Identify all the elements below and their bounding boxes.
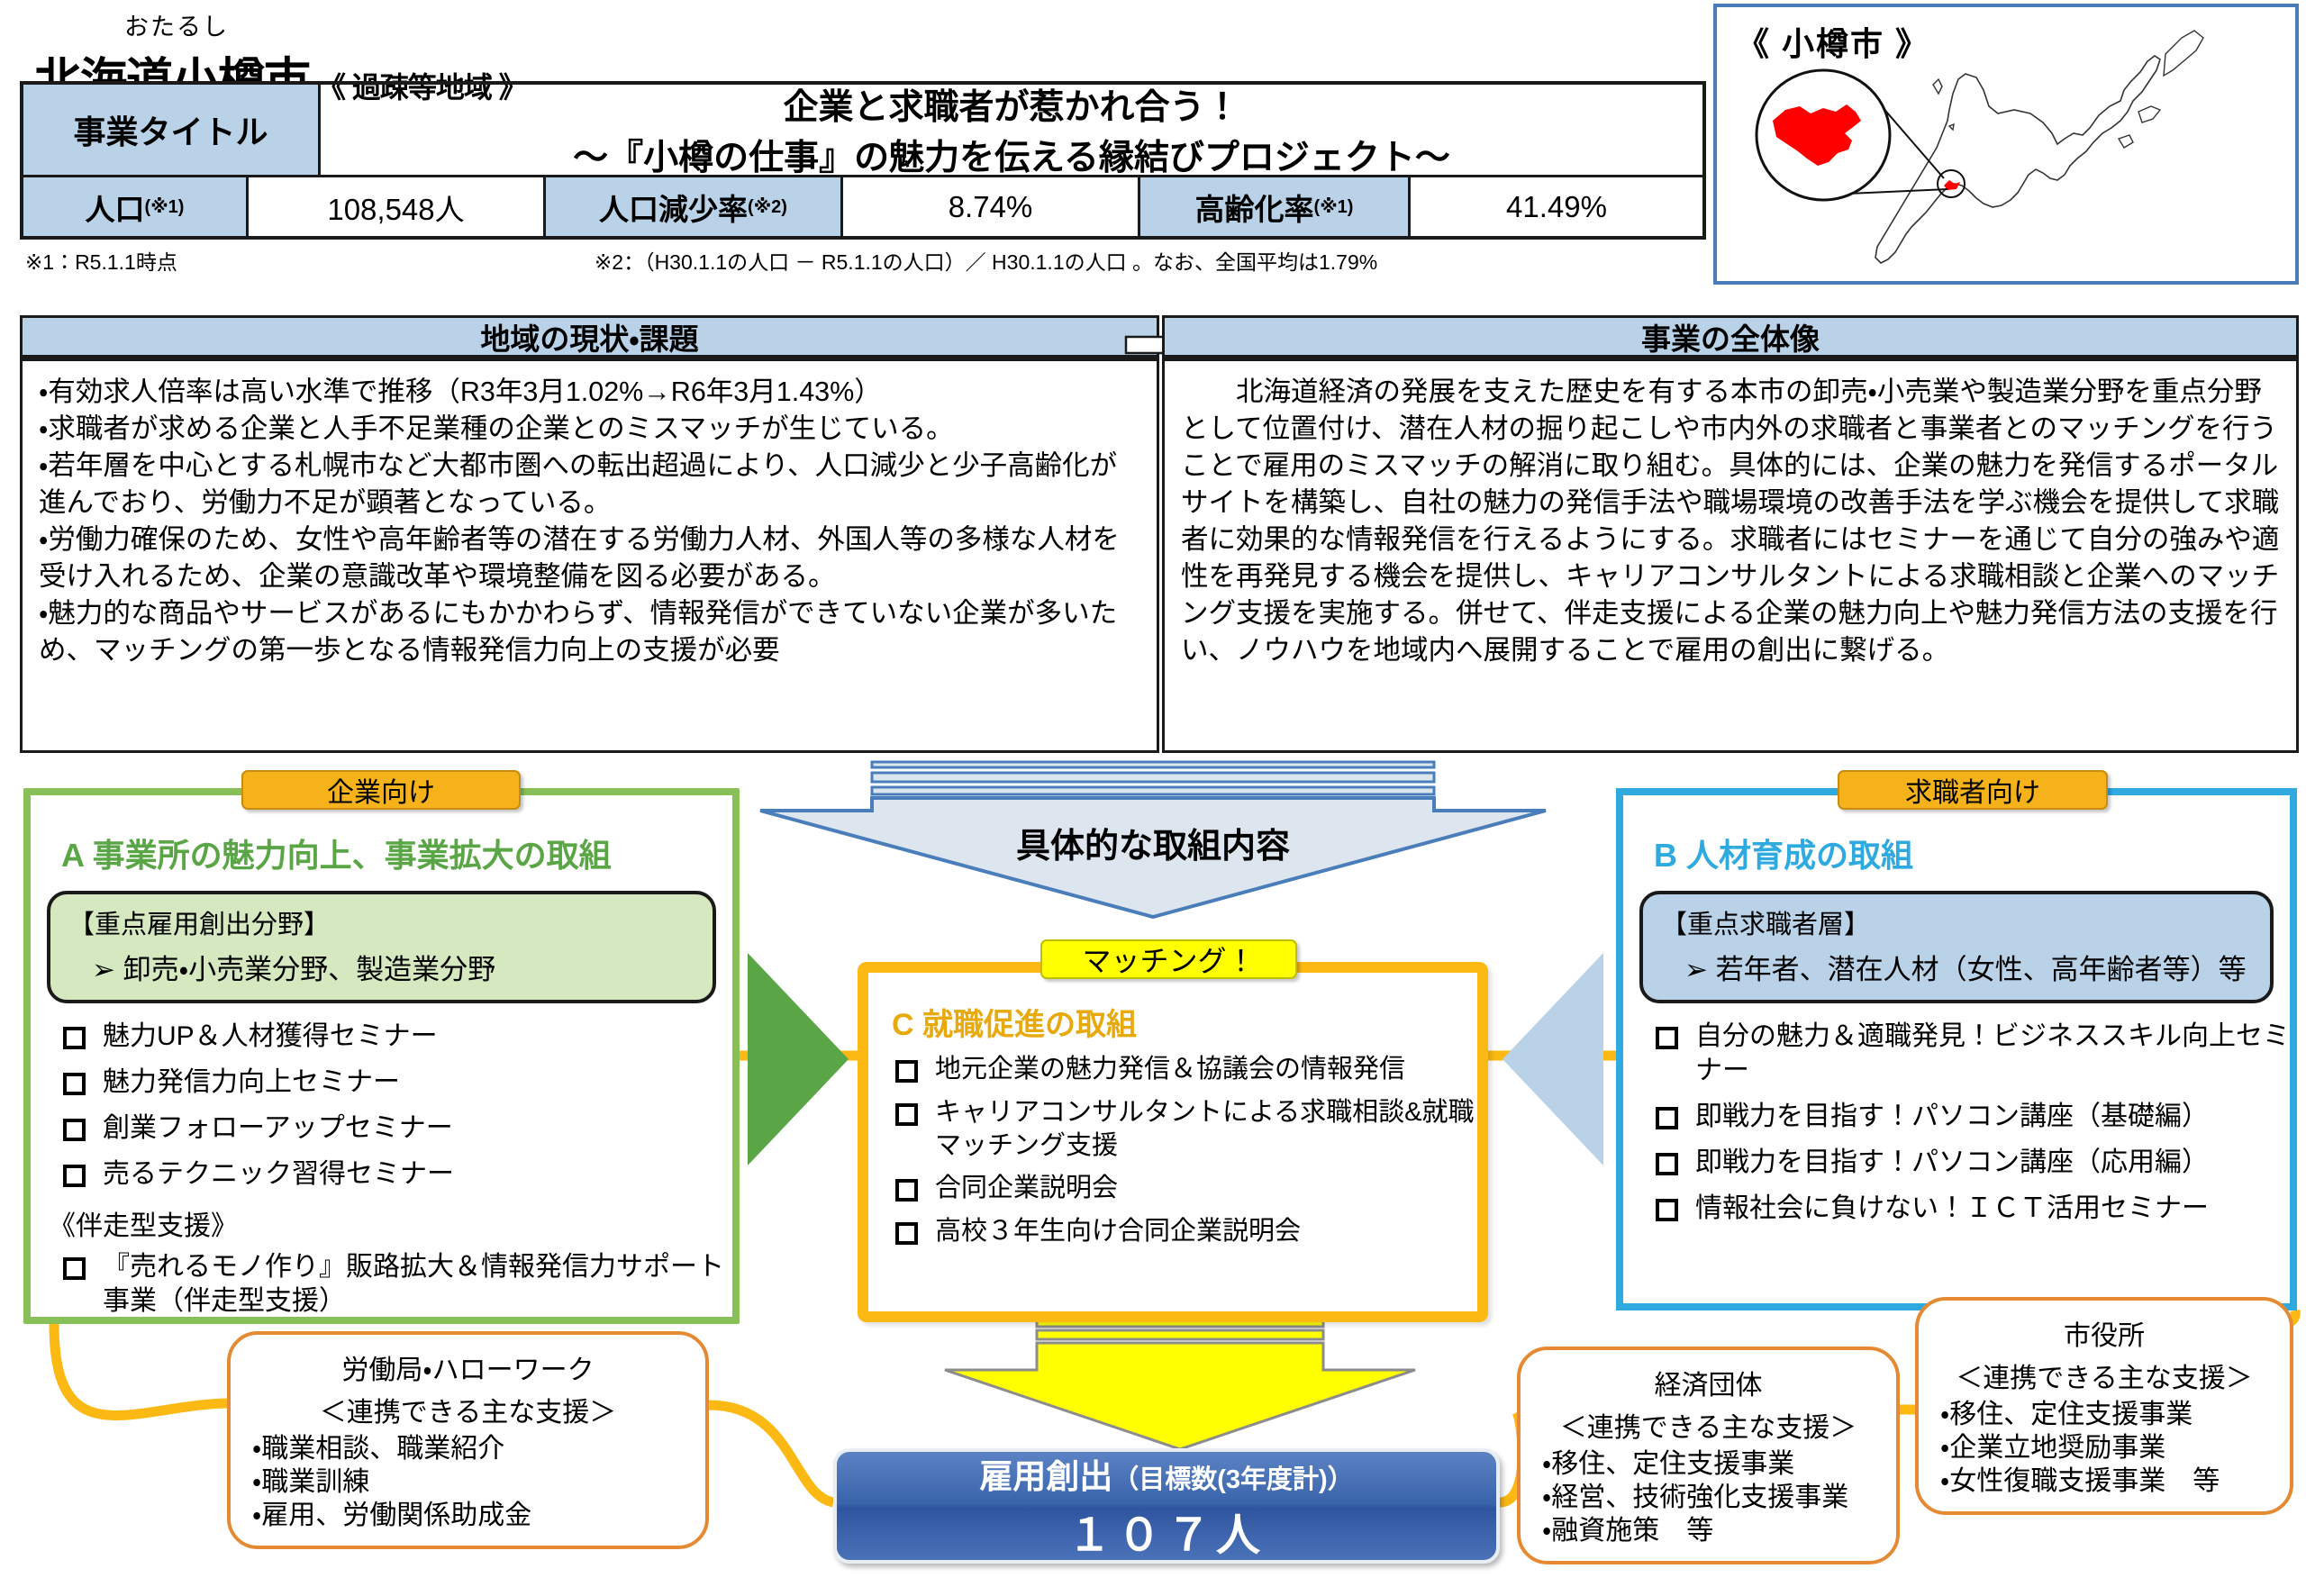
section-a-focus-item: ➢ 卸売・小売業分野、製造業分野 (68, 947, 695, 987)
footnote-1: ※1：R5.1.1時点 (25, 245, 177, 276)
partner-item: ・融資施策 等 (1537, 1514, 1880, 1547)
section-a-support-heading: 《伴走型支援》 (49, 1203, 732, 1243)
city-ruby: おたるし (34, 7, 527, 42)
list-item[interactable]: 『売れるモノ作り』販路拡大＆情報発信力サポート事業（伴走型支援） (61, 1250, 732, 1319)
footnote-2: ※2：（H30.1.1の人口 － R5.1.1の人口）／ H30.1.1の人口 … (595, 245, 1377, 276)
title-line-1: 企業と求職者が惹かれ合う！ (783, 79, 1239, 130)
section-b-focus-heading: 【重点求職者層】 (1661, 903, 2252, 941)
issue-line: ・求職者が求める企業と人手不足業種の企業とのミスマッチが生じている。 (39, 411, 1140, 448)
partner-subtitle: ＜連携できる主な支援＞ (247, 1390, 689, 1429)
partner-item: ・経営、技術強化支援事業 (1537, 1481, 1880, 1514)
partner-subtitle: ＜連携できる主な支援＞ (1935, 1356, 2274, 1395)
partner-item: ・雇用、労働関係助成金 (247, 1499, 689, 1532)
result-banner-value: １０７人 (1067, 1500, 1266, 1564)
title-row: 事業タイトル 企業と求職者が惹かれ合う！ ～『小樽の仕事』の魅力を伝える縁結びプ… (23, 85, 1702, 175)
stat-key-aging-rate: 高齢化率(※1) (1140, 177, 1411, 236)
panel-body-overview: 北海道経済の発展を支えた歴史を有する本市の卸売・小売業や製造業分野を重点分野とし… (1162, 358, 2299, 753)
section-c-employment-promotion: C 就職促進の取組 地元企業の魅力発信＆協議会の情報発信 キャリアコンサルタント… (858, 962, 1488, 1322)
panel-heading-current-issues: 地域の現状・課題 (20, 315, 1159, 358)
stats-row: 人口(※1) 108,548人 人口減少率(※2) 8.74% 高齢化率(※1)… (23, 175, 1702, 236)
partner-subtitle: ＜連携できる主な支援＞ (1537, 1405, 1880, 1445)
title-value-cell: 企業と求職者が惹かれ合う！ ～『小樽の仕事』の魅力を伝える縁結びプロジェクト～ (321, 85, 1702, 175)
partner-item: ・移住、定住支援事業 (1935, 1398, 2274, 1431)
project-title-table: 事業タイトル 企業と求職者が惹かれ合う！ ～『小樽の仕事』の魅力を伝える縁結びプ… (20, 81, 1706, 240)
issue-line: ・労働力確保のため、女性や高年齢者等の潜在する労働力人材、外国人等の多様な人材を… (39, 521, 1140, 595)
panel-heading-overview: 事業の全体像 (1162, 315, 2299, 358)
list-item[interactable]: 自分の魅力＆適職発見！ビジネススキル向上セミナー (1654, 1020, 2290, 1088)
partner-box-labor-bureau: 労働局・ハローワーク ＜連携できる主な支援＞ ・職業相談、職業紹介 ・職業訓練 … (227, 1331, 709, 1549)
section-b-hr-development: B 人材育成の取組 【重点求職者層】 ➢ 若年者、潜在人材（女性、高年齢者等）等… (1616, 788, 2297, 1310)
stat-key-population: 人口(※1) (23, 177, 249, 236)
partner-title: 経済団体 (1537, 1363, 1880, 1402)
title-label-cell: 事業タイトル (23, 85, 321, 175)
section-a-company-measures: A 事業所の魅力向上、事業拡大の取組 【重点雇用創出分野】 ➢ 卸売・小売業分野… (23, 788, 740, 1324)
arrow-b-to-c-icon (1503, 953, 1603, 1165)
list-item[interactable]: 合同企業説明会 (894, 1172, 1477, 1205)
issue-line: ・魅力的な商品やサービスがあるにもかかわらず、情報発信ができていない企業が多いた… (39, 595, 1140, 669)
stat-value-population: 108,548人 (249, 177, 546, 236)
list-item[interactable]: 魅力UP＆人材獲得セミナー (61, 1020, 732, 1054)
list-item[interactable]: 情報社会に負けない！ＩＣＴ活用セミナー (1654, 1192, 2290, 1226)
list-item[interactable]: 創業フォローアップセミナー (61, 1111, 732, 1146)
section-b-focus-item: ➢ 若年者、潜在人材（女性、高年齢者等）等 (1661, 947, 2252, 987)
partner-title: 市役所 (1935, 1313, 2274, 1353)
arrow-a-to-c-icon (748, 953, 849, 1165)
tab-for-jobseekers[interactable]: 求職者向け (1838, 770, 2108, 810)
stat-value-aging-rate: 41.49% (1411, 177, 1702, 236)
section-b-title: B 人材育成の取組 (1654, 830, 2290, 876)
poster-root: おたるし 北海道小樽市 《 過疎等地域 》 事業タイトル 企業と求職者が惹かれ合… (0, 0, 2306, 1596)
partner-box-city-hall: 市役所 ＜連携できる主な支援＞ ・移住、定住支援事業 ・企業立地奨励事業 ・女性… (1915, 1297, 2293, 1515)
list-item[interactable]: キャリアコンサルタントによる求職相談&就職マッチング支援 (894, 1096, 1477, 1163)
section-a-item-list: 魅力UP＆人材獲得セミナー 魅力発信力向上セミナー 創業フォローアップセミナー … (61, 1020, 732, 1192)
stat-value-decline-rate: 8.74% (843, 177, 1140, 236)
result-banner-label: 雇用創出（目標数(3年度計)） (979, 1449, 1353, 1498)
list-item[interactable]: 売るテクニック習得セミナー (61, 1157, 732, 1192)
stat-key-decline-rate: 人口減少率(※2) (546, 177, 843, 236)
issue-line: ・有効求人倍率は高い水準で推移（R3年3月1.02%→R6年3月1.43%） (39, 374, 1140, 411)
partner-item: ・職業訓練 (247, 1465, 689, 1499)
overview-text: 北海道経済の発展を支えた歴史を有する本市の卸売・小売業や製造業分野を重点分野とし… (1181, 374, 2280, 669)
section-a-focus-box: 【重点雇用創出分野】 ➢ 卸売・小売業分野、製造業分野 (47, 891, 716, 1003)
section-a-title: A 事業所の魅力向上、事業拡大の取組 (61, 830, 732, 876)
panel-body-current-issues: ・有効求人倍率は高い水準で推移（R3年3月1.02%→R6年3月1.43%） ・… (20, 358, 1159, 753)
result-banner: 雇用創出（目標数(3年度計)） １０７人 (833, 1448, 1500, 1564)
list-item[interactable]: 高校３年生向け合同企業説明会 (894, 1215, 1477, 1248)
list-item[interactable]: 即戦力を目指す！パソコン講座（応用編） (1654, 1146, 2290, 1180)
section-band-label: 具体的な取組内容 (757, 818, 1549, 867)
list-item[interactable]: 即戦力を目指す！パソコン講座（基礎編） (1654, 1100, 2290, 1134)
partner-item: ・企業立地奨励事業 (1935, 1431, 2274, 1465)
list-item[interactable]: 魅力発信力向上セミナー (61, 1066, 732, 1100)
section-a-support-list: 『売れるモノ作り』販路拡大＆情報発信力サポート事業（伴走型支援） (61, 1250, 732, 1319)
partner-title: 労働局・ハローワーク (247, 1347, 689, 1387)
location-map-box: 《 小樽市 》 (1713, 4, 2299, 285)
partner-item: ・職業相談、職業紹介 (247, 1432, 689, 1465)
section-a-focus-heading: 【重点雇用創出分野】 (68, 903, 695, 941)
list-item[interactable]: 地元企業の魅力発信＆協議会の情報発信 (894, 1053, 1477, 1086)
section-b-focus-box: 【重点求職者層】 ➢ 若年者、潜在人材（女性、高年齢者等）等 (1639, 891, 2274, 1003)
tab-matching[interactable]: マッチング！ (1040, 939, 1297, 979)
title-line-2: ～『小樽の仕事』の魅力を伝える縁結びプロジェクト～ (573, 130, 1450, 180)
section-c-title: C 就職促進の取組 (892, 1000, 1477, 1044)
arrow-to-result-icon (941, 1318, 1419, 1453)
partner-item: ・移住、定住支援事業 (1537, 1447, 1880, 1481)
partner-item: ・女性復職支援事業 等 (1935, 1465, 2274, 1498)
section-c-item-list: 地元企業の魅力発信＆協議会の情報発信 キャリアコンサルタントによる求職相談&就職… (894, 1053, 1477, 1248)
partner-box-economic-org: 経済団体 ＜連携できる主な支援＞ ・移住、定住支援事業 ・経営、技術強化支援事業… (1517, 1347, 1900, 1564)
tab-for-companies[interactable]: 企業向け (241, 770, 521, 810)
issue-line: ・若年層を中心とする札幌市など大都市圏への転出超過により、人口減少と少子高齢化が… (39, 448, 1140, 521)
section-b-item-list: 自分の魅力＆適職発見！ビジネススキル向上セミナー 即戦力を目指す！パソコン講座（… (1654, 1020, 2290, 1226)
map-title: 《 小樽市 》 (1737, 18, 1929, 65)
